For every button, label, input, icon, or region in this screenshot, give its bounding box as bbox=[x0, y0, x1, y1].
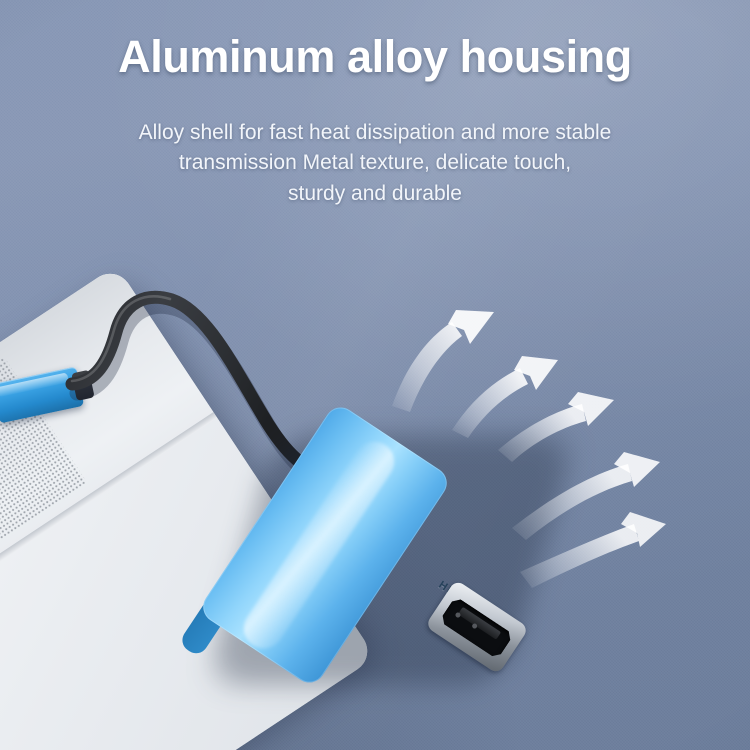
subtitle-line-1: Alloy shell for fast heat dissipation an… bbox=[58, 118, 692, 148]
hdmi-adapter-hub: HD 2.0 bbox=[247, 417, 549, 675]
subtitle-line-2: transmission Metal texture, delicate tou… bbox=[58, 148, 692, 178]
product-image-canvas: shift bbox=[0, 0, 750, 750]
subtitle-line-3: sturdy and durable bbox=[58, 179, 692, 209]
hub-body-wrap: HD 2.0 bbox=[247, 417, 549, 675]
hub-port-end bbox=[425, 579, 529, 674]
page-title: Aluminum alloy housing bbox=[0, 30, 750, 84]
page-subtitle: Alloy shell for fast heat dissipation an… bbox=[58, 118, 692, 209]
